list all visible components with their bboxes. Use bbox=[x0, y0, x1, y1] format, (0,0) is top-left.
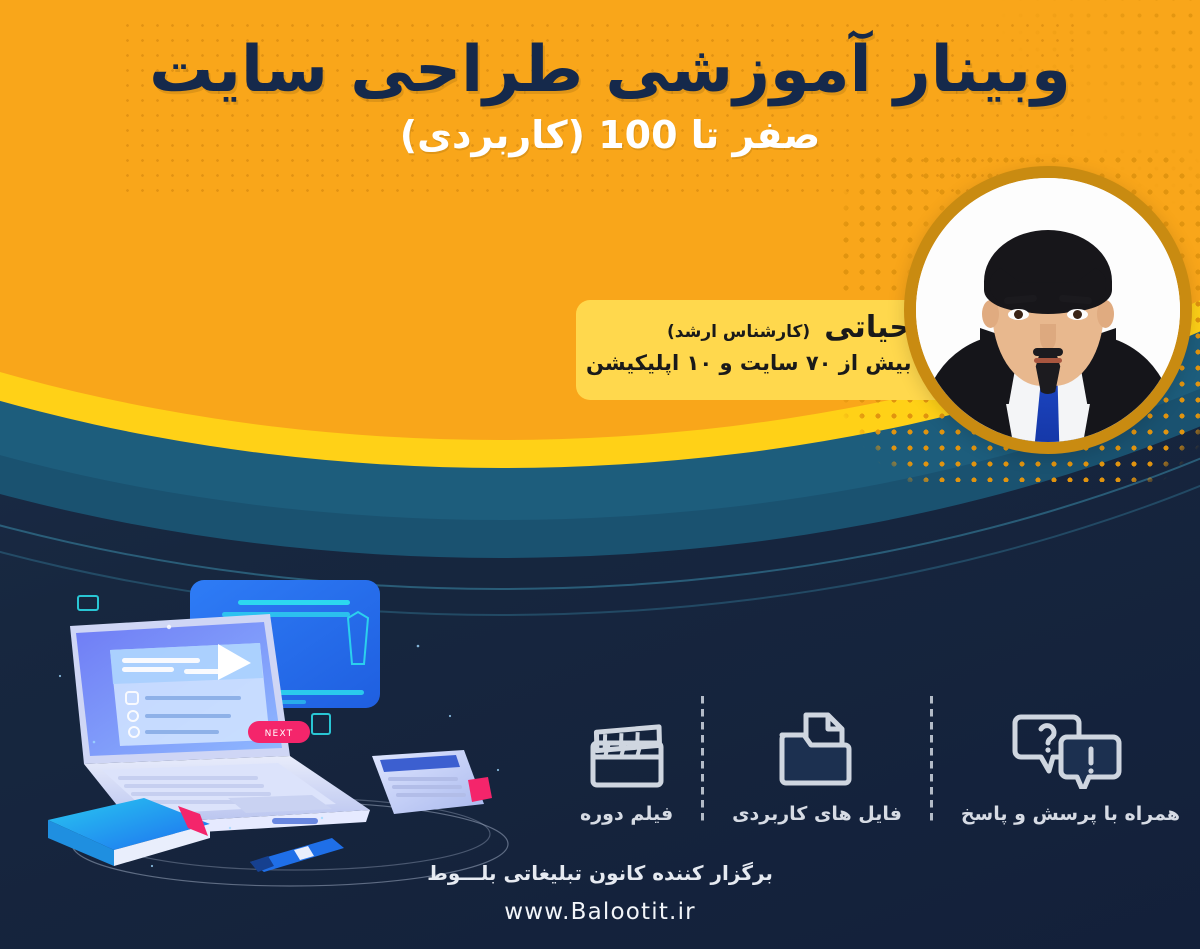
next-button-label: NEXT bbox=[265, 729, 294, 739]
portrait-nose bbox=[1040, 324, 1056, 350]
portrait-moustache bbox=[1033, 348, 1063, 356]
portrait-mouth bbox=[1034, 358, 1062, 363]
portrait-eye-right bbox=[1067, 309, 1088, 320]
clapperboard-icon bbox=[585, 707, 669, 789]
folder-document-icon bbox=[776, 707, 858, 789]
footer-website[interactable]: www.Balootit.ir bbox=[0, 899, 1200, 925]
feature-list: همراه با پرسش و پاسخ فایل های کاربردی bbox=[580, 690, 1180, 825]
footer: برگزار کننده کانون تبلیغاتی بلـــوط www.… bbox=[0, 861, 1200, 925]
feature-item-qa: همراه با پرسش و پاسخ bbox=[961, 690, 1180, 825]
portrait-eye-left bbox=[1008, 309, 1029, 320]
elearning-illustration: NEXT bbox=[32, 566, 532, 896]
feature-item-files: فایل های کاربردی bbox=[732, 690, 902, 825]
page-title: وبینار آموزشی طراحی سایت bbox=[80, 36, 1140, 105]
speech-bubbles-qa-icon bbox=[1011, 707, 1129, 789]
illustration-svg: NEXT bbox=[32, 566, 532, 896]
presenter-credential: (کارشناس ارشد) bbox=[667, 322, 810, 342]
feature-label-files: فایل های کاربردی bbox=[732, 803, 902, 825]
feature-item-video: فیلم دوره bbox=[580, 690, 673, 825]
feature-label-video: فیلم دوره bbox=[580, 803, 673, 825]
headline-block: وبینار آموزشی طراحی سایت صفر تا 100 (کار… bbox=[80, 36, 1140, 157]
feature-divider-2 bbox=[701, 696, 704, 823]
webinar-poster: وبینار آموزشی طراحی سایت صفر تا 100 (کار… bbox=[0, 0, 1200, 949]
presenter-portrait bbox=[904, 166, 1192, 454]
footer-organizer: برگزار کننده کانون تبلیغاتی بلـــوط bbox=[0, 861, 1200, 885]
feature-label-qa: همراه با پرسش و پاسخ bbox=[961, 803, 1180, 825]
feature-divider-1 bbox=[930, 696, 933, 823]
page-subtitle: صفر تا 100 (کاربردی) bbox=[80, 115, 1140, 157]
